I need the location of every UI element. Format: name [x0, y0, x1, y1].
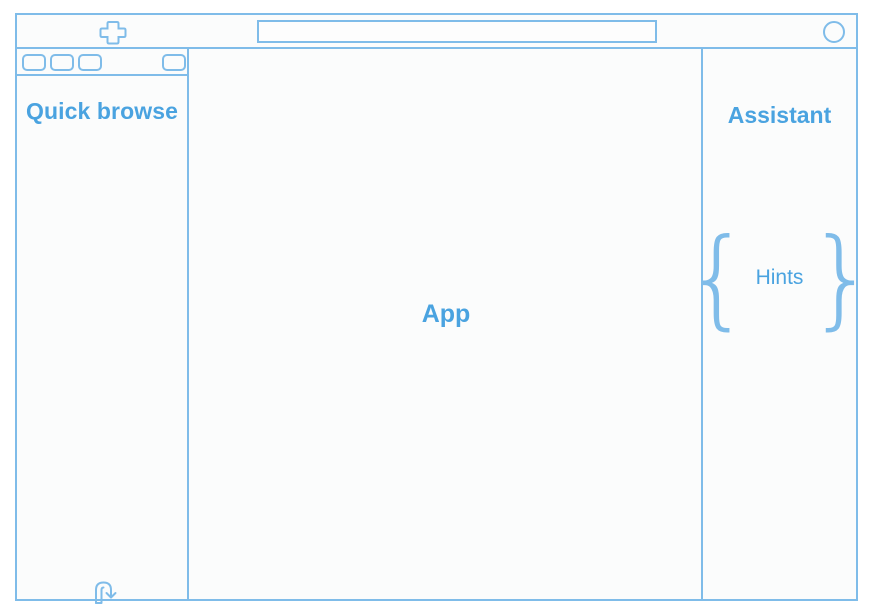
circle-avatar-icon[interactable] — [823, 21, 845, 43]
brace-left-icon: { — [683, 228, 752, 331]
toolbar-button-2[interactable] — [50, 54, 74, 71]
plus-icon[interactable] — [99, 20, 127, 45]
title-bar — [17, 15, 856, 49]
u-turn-arrow-icon[interactable] — [92, 577, 122, 607]
hints-label: Hints — [756, 266, 804, 292]
app-label: App — [191, 49, 701, 599]
toolbar-button-1[interactable] — [22, 54, 46, 71]
sidebar-panel: Quick browse — [17, 49, 189, 599]
toolbar-button-3[interactable] — [78, 54, 102, 71]
assistant-title: Assistant — [703, 102, 856, 129]
sidebar-toolbar — [17, 49, 187, 76]
hints-block: { Hints } — [703, 204, 856, 354]
window-frame: Quick browse App Assistant { Hints } — [15, 13, 858, 601]
sidebar-title: Quick browse — [17, 97, 187, 126]
search-input[interactable] — [257, 20, 657, 43]
wireframe-canvas: Quick browse App Assistant { Hints } — [0, 0, 879, 616]
assistant-panel: Assistant { Hints } — [703, 49, 856, 599]
toolbar-button-4[interactable] — [162, 54, 186, 71]
main-app-panel: App — [191, 49, 703, 599]
brace-right-icon: } — [807, 228, 876, 331]
